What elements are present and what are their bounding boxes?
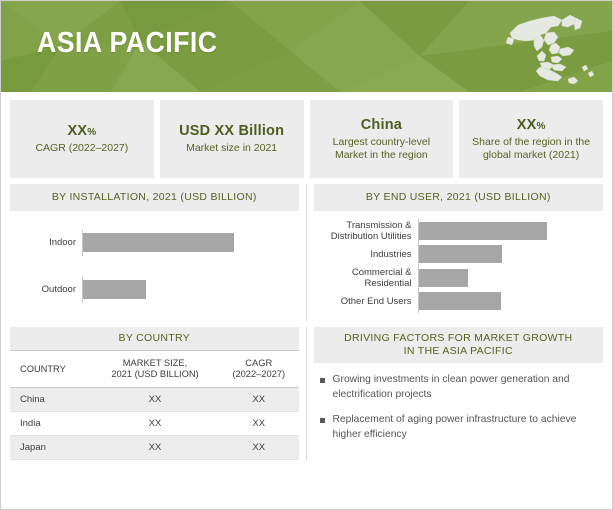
bar-category-label: Outdoor [10, 284, 82, 295]
cell-country: India [10, 412, 91, 436]
kpi-label: Largest country-level Market in the regi… [333, 136, 430, 162]
kpi-label: CAGR (2022–2027) [35, 142, 128, 155]
bar [419, 245, 503, 263]
bar-row: Outdoor [10, 277, 293, 303]
bar [83, 233, 234, 252]
kpi-value-text: XX [67, 123, 87, 139]
kpi-value-text: China [361, 117, 402, 133]
list-item: Replacement of aging power infrastructur… [318, 413, 596, 442]
kpi-card-largest-country: China Largest country-level Market in th… [310, 100, 454, 178]
kpi-card-market-size: USD XX Billion Market size in 2021 [160, 100, 304, 178]
bar-row: Indoor [10, 230, 293, 256]
page-title: ASIA PACIFIC [37, 27, 217, 60]
table-header-row: COUNTRY MARKET SIZE, 2021 (USD BILLION) … [10, 351, 299, 388]
bar-track [418, 243, 598, 267]
header-banner: ASIA PACIFIC [1, 1, 612, 92]
bar-row: Transmission & Distribution Utilities [314, 219, 598, 243]
bar [83, 280, 146, 299]
table-row: Japan XX XX [10, 436, 299, 460]
asia-pacific-infographic: ASIA PACIFIC XX% CAGR (2022–2027) USD XX… [0, 0, 613, 510]
table-row: India XX XX [10, 412, 299, 436]
kpi-value-suffix: % [536, 121, 545, 132]
kpi-value-text: USD XX Billion [179, 123, 284, 139]
bar-category-label: Industries [314, 249, 418, 260]
installation-bar-chart: Indoor Outdoor [10, 211, 299, 321]
cell-market-size: XX [91, 412, 219, 436]
installation-panel: BY INSTALLATION, 2021 (USD BILLION) Indo… [10, 184, 307, 321]
bar-category-label: Transmission & Distribution Utilities [314, 220, 418, 242]
drivers-title: DRIVING FACTORS FOR MARKET GROWTH IN THE… [314, 327, 604, 363]
country-table: COUNTRY MARKET SIZE, 2021 (USD BILLION) … [10, 350, 299, 460]
column-header-market-size: MARKET SIZE, 2021 (USD BILLION) [91, 351, 219, 388]
bar-row: Commercial & Residential [314, 266, 598, 290]
kpi-card-cagr: XX% CAGR (2022–2027) [10, 100, 154, 178]
kpi-value: USD XX Billion [179, 123, 284, 139]
bar [419, 269, 469, 287]
cell-market-size: XX [91, 388, 219, 412]
kpi-card-global-share: XX% Share of the region in the global ma… [459, 100, 603, 178]
bar-category-label: Other End Users [314, 296, 418, 307]
kpi-value-text: XX [517, 117, 537, 133]
bar [419, 292, 501, 310]
kpi-value: XX% [67, 123, 96, 139]
bullet-icon [320, 378, 325, 383]
kpi-label: Market size in 2021 [186, 142, 277, 155]
country-panel: BY COUNTRY COUNTRY MARKET SIZE, 2021 (US… [10, 327, 307, 460]
column-header-cagr: CAGR (2022–2027) [219, 351, 299, 388]
bar-track [418, 290, 598, 314]
bar-row: Other End Users [314, 290, 598, 314]
bar-track [82, 230, 293, 256]
asia-pacific-map-icon [496, 7, 600, 87]
bar-track [418, 219, 598, 243]
bottom-row: BY COUNTRY COUNTRY MARKET SIZE, 2021 (US… [1, 321, 612, 460]
table-row: China XX XX [10, 388, 299, 412]
enduser-bar-chart: Transmission & Distribution Utilities In… [314, 211, 604, 321]
enduser-chart-title: BY END USER, 2021 (USD BILLION) [314, 184, 604, 211]
bar-track [82, 277, 293, 303]
kpi-value-suffix: % [87, 127, 96, 138]
bullet-icon [320, 418, 325, 423]
list-item: Growing investments in clean power gener… [318, 373, 596, 402]
kpi-row: XX% CAGR (2022–2027) USD XX Billion Mark… [1, 92, 612, 184]
cell-cagr: XX [219, 436, 299, 460]
charts-row: BY INSTALLATION, 2021 (USD BILLION) Indo… [1, 184, 612, 321]
country-table-title: BY COUNTRY [10, 327, 299, 350]
cell-country: Japan [10, 436, 91, 460]
column-header-country: COUNTRY [10, 351, 91, 388]
driver-text: Growing investments in clean power gener… [333, 373, 596, 402]
bar-row: Industries [314, 243, 598, 267]
cell-country: China [10, 388, 91, 412]
installation-chart-title: BY INSTALLATION, 2021 (USD BILLION) [10, 184, 299, 211]
cell-market-size: XX [91, 436, 219, 460]
kpi-label: Share of the region in the global market… [472, 136, 590, 162]
driver-text: Replacement of aging power infrastructur… [333, 413, 596, 442]
enduser-panel: BY END USER, 2021 (USD BILLION) Transmis… [307, 184, 604, 321]
kpi-value: China [361, 117, 402, 133]
bar [419, 222, 548, 240]
bar-category-label: Commercial & Residential [314, 267, 418, 289]
bar-track [418, 266, 598, 290]
drivers-list: Growing investments in clean power gener… [314, 363, 604, 457]
cell-cagr: XX [219, 412, 299, 436]
drivers-panel: DRIVING FACTORS FOR MARKET GROWTH IN THE… [307, 327, 604, 460]
cell-cagr: XX [219, 388, 299, 412]
kpi-value: XX% [517, 117, 546, 133]
bar-category-label: Indoor [10, 237, 82, 248]
